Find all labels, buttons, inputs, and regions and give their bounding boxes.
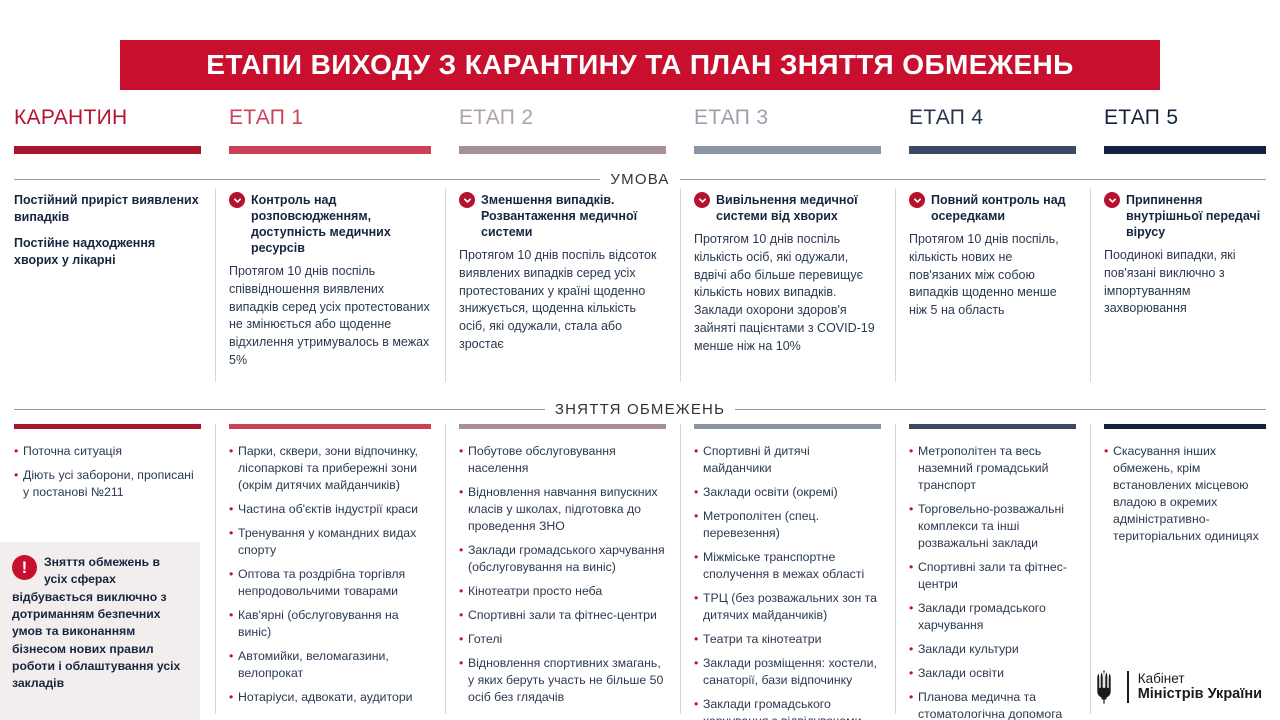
condition-heading-text: Повний контроль над осередками	[931, 193, 1066, 223]
restriction-item: Готелі	[459, 631, 666, 648]
stage-title-stage1: ЕТАП 1	[229, 106, 431, 129]
stage-header-stage1: ЕТАП 1	[215, 106, 445, 162]
restriction-item: Нотаріуси, адвокати, аудитори	[229, 689, 431, 706]
restriction-item: Скасування інших обмежень, крім встановл…	[1104, 443, 1266, 545]
condition-heading-stage2: Зменшення випадків. Розвантаження медичн…	[459, 192, 666, 240]
condition-heading-stage1: Контроль над розповсюдженням, доступніст…	[229, 192, 431, 256]
restriction-item: Побутове обслуговування населення	[459, 443, 666, 477]
restrictions-list-stage4: Метрополітен та весь наземний громадськи…	[909, 443, 1076, 720]
warning-box: ! Зняття обмежень в усіх сферах відбуває…	[0, 542, 200, 720]
stage-header-stage4: ЕТАП 4	[895, 106, 1090, 162]
restriction-item: Автомийки, веломагазини, велопрокат	[229, 648, 431, 682]
condition-col-stage3: Вивільнення медичної системи від хворихП…	[680, 192, 895, 392]
restriction-item: Заклади освіти (окремі)	[694, 484, 881, 501]
stage-underline-stage4	[909, 146, 1076, 154]
restrictions-bar-quarantine	[14, 424, 201, 429]
logo-line-2: Міністрів України	[1138, 686, 1262, 702]
restriction-item: Заклади громадського харчування (обслуго…	[459, 542, 666, 576]
restriction-item: Відновлення навчання випускних класів у …	[459, 484, 666, 535]
chevron-down-circle-icon	[694, 192, 710, 208]
restriction-item: Заклади громадського харчування	[909, 600, 1076, 634]
condition-body-stage2: Протягом 10 днів поспіль відсоток виявле…	[459, 247, 666, 354]
cabinet-of-ministers-logo: Кабінет Міністрів України	[1092, 670, 1262, 704]
stage-header-stage2: ЕТАП 2	[445, 106, 680, 162]
divider-rule-left	[14, 179, 600, 180]
restrictions-list-stage1: Парки, сквери, зони відпочинку, лісопарк…	[229, 443, 431, 706]
chevron-down-circle-icon	[909, 192, 925, 208]
stage-title-stage3: ЕТАП 3	[694, 106, 881, 129]
logo-line-1: Кабінет	[1138, 671, 1262, 686]
condition-statement: Постійний приріст виявлених випадків	[14, 192, 201, 226]
restriction-item: Спортивні зали та фітнес-центри	[459, 607, 666, 624]
stage-underline-stage5	[1104, 146, 1266, 154]
condition-body-stage5: Поодинокі випадки, які пов'язані виключн…	[1104, 247, 1266, 318]
condition-body-stage1: Протягом 10 днів поспіль співвідношення …	[229, 263, 431, 370]
condition-col-stage5: Припинення внутрішньої передачі вірусуПо…	[1090, 192, 1280, 392]
condition-col-stage2: Зменшення випадків. Розвантаження медичн…	[445, 192, 680, 392]
restriction-item: Метрополітен (спец. перевезення)	[694, 508, 881, 542]
restriction-item: Поточна ситуація	[14, 443, 201, 460]
restrictions-list-stage2: Побутове обслуговування населенняВідновл…	[459, 443, 666, 706]
divider-condition-caption: УМОВА	[610, 171, 669, 188]
stage-header-stage5: ЕТАП 5	[1090, 106, 1280, 162]
infographic-page: ЕТАПИ ВИХОДУ З КАРАНТИНУ ТА ПЛАН ЗНЯТТЯ …	[0, 0, 1280, 720]
restriction-item: Частина об'єктів індустрії краси	[229, 501, 431, 518]
restrictions-list-stage5: Скасування інших обмежень, крім встановл…	[1104, 443, 1266, 545]
restrictions-list-quarantine: Поточна ситуаціяДіють усі заборони, проп…	[14, 443, 201, 501]
divider-restrictions: ЗНЯТТЯ ОБМЕЖЕНЬ	[14, 400, 1266, 418]
stage-underline-stage1	[229, 146, 431, 154]
restrictions-bar-stage2	[459, 424, 666, 429]
logo-text: Кабінет Міністрів України	[1138, 671, 1262, 702]
condition-col-quarantine: Постійний приріст виявлених випадківПост…	[0, 192, 215, 392]
restrictions-bar-stage1	[229, 424, 431, 429]
stage-header-stage3: ЕТАП 3	[680, 106, 895, 162]
condition-row: Постійний приріст виявлених випадківПост…	[0, 192, 1280, 392]
stage-title-stage2: ЕТАП 2	[459, 106, 666, 129]
restriction-item: Заклади розміщення: хостели, санаторії, …	[694, 655, 881, 689]
condition-heading-text: Припинення внутрішньої передачі вірусу	[1126, 193, 1260, 239]
exclamation-icon: !	[12, 555, 37, 580]
logo-separator	[1127, 671, 1129, 703]
restriction-item: ТРЦ (без розважальних зон та дитячих май…	[694, 590, 881, 624]
restriction-item: Тренування у командних видах спорту	[229, 525, 431, 559]
condition-col-stage1: Контроль над розповсюдженням, доступніст…	[215, 192, 445, 392]
restrictions-col-stage4: Метрополітен та весь наземний громадськи…	[895, 424, 1090, 720]
stage-header-quarantine: КАРАНТИН	[0, 106, 215, 162]
stage-title-stage4: ЕТАП 4	[909, 106, 1076, 129]
divider-rule-right	[735, 409, 1266, 410]
divider-rule-right	[680, 179, 1266, 180]
restriction-item: Театри та кінотеатри	[694, 631, 881, 648]
restriction-item: Відновлення спортивних змагань, у яких б…	[459, 655, 666, 706]
condition-body-stage4: Протягом 10 днів поспіль, кількість нови…	[909, 231, 1076, 320]
chevron-down-circle-icon	[229, 192, 245, 208]
restriction-item: Парки, сквери, зони відпочинку, лісопарк…	[229, 443, 431, 494]
restriction-item: Заклади освіти	[909, 665, 1076, 682]
restrictions-col-stage3: Спортивні й дитячі майданчикиЗаклади осв…	[680, 424, 895, 720]
restrictions-bar-stage4	[909, 424, 1076, 429]
condition-heading-text: Зменшення випадків. Розвантаження медичн…	[481, 193, 637, 239]
page-title: ЕТАПИ ВИХОДУ З КАРАНТИНУ ТА ПЛАН ЗНЯТТЯ …	[206, 49, 1073, 81]
chevron-down-circle-icon	[459, 192, 475, 208]
stage-header-row: КАРАНТИНЕТАП 1ЕТАП 2ЕТАП 3ЕТАП 4ЕТАП 5	[0, 106, 1280, 162]
restriction-item: Оптова та роздрібна торгівля непродоволь…	[229, 566, 431, 600]
restriction-item: Планова медична та стоматологічна допомо…	[909, 689, 1076, 720]
restriction-item: Діють усі заборони, прописані у постанов…	[14, 467, 201, 501]
restrictions-list-stage3: Спортивні й дитячі майданчикиЗаклади осв…	[694, 443, 881, 720]
stage-underline-stage3	[694, 146, 881, 154]
trident-icon	[1092, 670, 1118, 704]
restriction-item: Кінотеатри просто неба	[459, 583, 666, 600]
restriction-item: Кав'ярні (обслуговування на виніс)	[229, 607, 431, 641]
condition-heading-stage4: Повний контроль над осередками	[909, 192, 1076, 224]
restriction-item: Спортивні й дитячі майданчики	[694, 443, 881, 477]
chevron-down-circle-icon	[1104, 192, 1120, 208]
restriction-item: Метрополітен та весь наземний громадськи…	[909, 443, 1076, 494]
restrictions-col-stage1: Парки, сквери, зони відпочинку, лісопарк…	[215, 424, 445, 720]
restriction-item: Торговельно-розважальні комплекси та інш…	[909, 501, 1076, 552]
stage-title-stage5: ЕТАП 5	[1104, 106, 1266, 129]
stage-underline-quarantine	[14, 146, 201, 154]
divider-condition: УМОВА	[14, 170, 1266, 188]
restriction-item: Заклади громадського харчування з відвід…	[694, 696, 881, 720]
condition-col-stage4: Повний контроль над осередкамиПротягом 1…	[895, 192, 1090, 392]
condition-heading-text: Вивільнення медичної системи від хворих	[716, 193, 858, 223]
condition-heading-stage3: Вивільнення медичної системи від хворих	[694, 192, 881, 224]
divider-restrictions-caption: ЗНЯТТЯ ОБМЕЖЕНЬ	[555, 401, 725, 418]
condition-statement: Постійне надходження хворих у лікарні	[14, 235, 201, 269]
stage-underline-stage2	[459, 146, 666, 154]
stage-title-quarantine: КАРАНТИН	[14, 106, 201, 129]
restriction-item: Заклади культури	[909, 641, 1076, 658]
restrictions-col-stage2: Побутове обслуговування населенняВідновл…	[445, 424, 680, 720]
divider-rule-left	[14, 409, 545, 410]
warning-text: Зняття обмежень в усіх сферах відбуваєть…	[12, 554, 186, 693]
restriction-item: Спортивні зали та фітнес-центри	[909, 559, 1076, 593]
condition-heading-text: Контроль над розповсюдженням, доступніст…	[251, 193, 391, 255]
restrictions-bar-stage5	[1104, 424, 1266, 429]
condition-heading-stage5: Припинення внутрішньої передачі вірусу	[1104, 192, 1266, 240]
title-banner: ЕТАПИ ВИХОДУ З КАРАНТИНУ ТА ПЛАН ЗНЯТТЯ …	[120, 40, 1160, 90]
condition-body-stage3: Протягом 10 днів поспіль кількість осіб,…	[694, 231, 881, 355]
restriction-item: Міжміське транспортне сполучення в межах…	[694, 549, 881, 583]
restrictions-bar-stage3	[694, 424, 881, 429]
